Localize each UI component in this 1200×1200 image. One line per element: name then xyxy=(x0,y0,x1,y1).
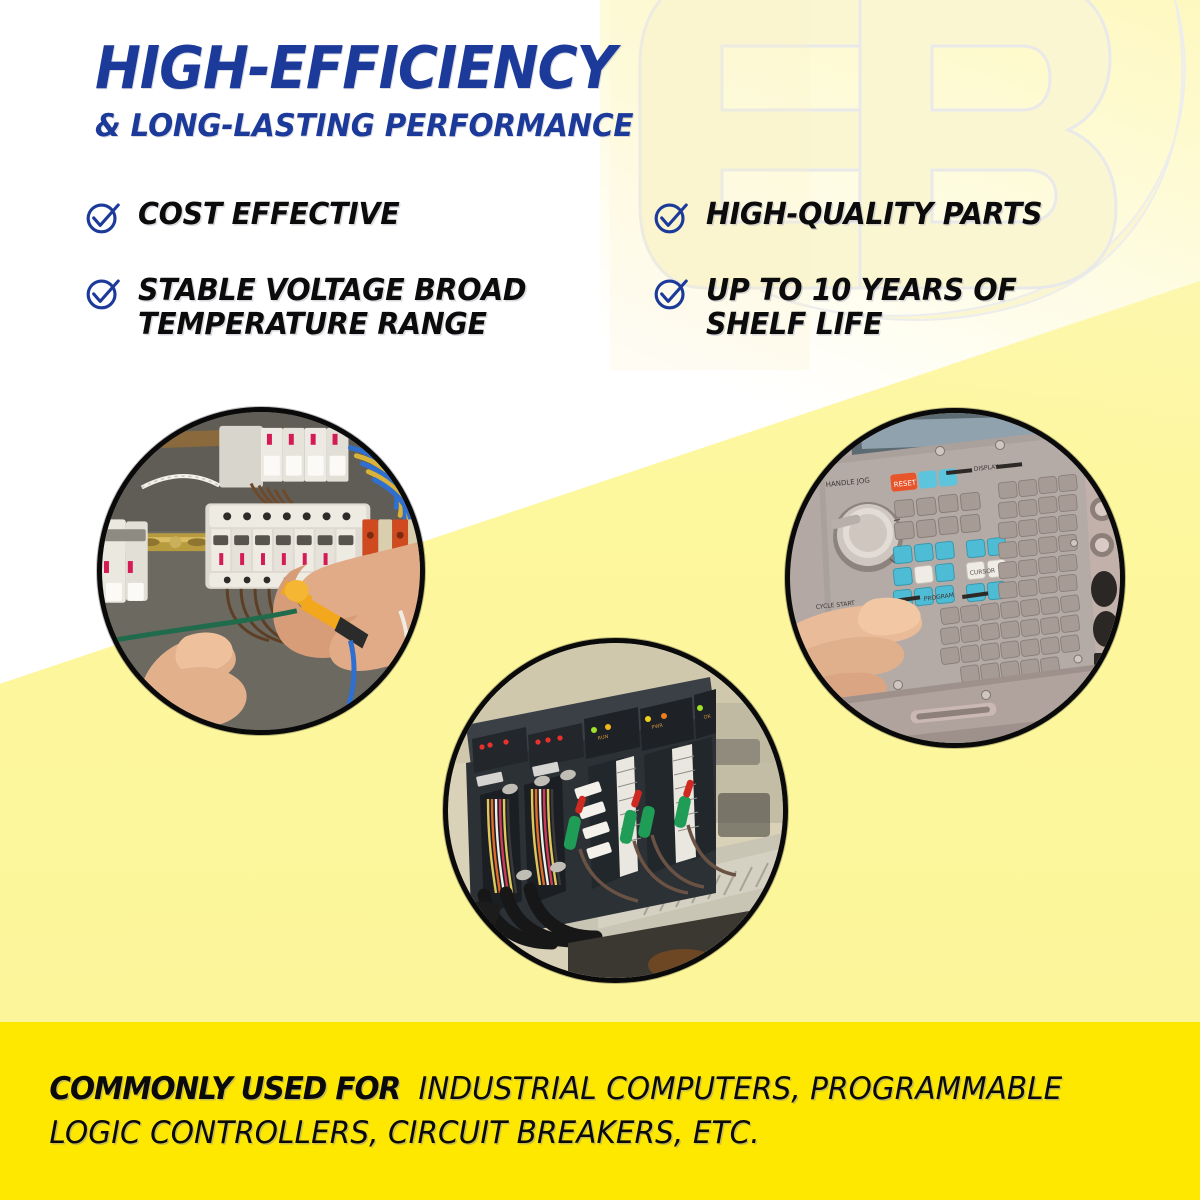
benefits-list: COST EFFECTIVE STABLE VOLTAGE BROAD TEMP… xyxy=(0,192,1200,372)
check-circle-icon xyxy=(652,199,689,236)
usage-banner: COMMONLY USED FOR INDUSTRIAL COMPUTERS, … xyxy=(0,1022,1200,1200)
benefit-item-high-quality-parts: HIGH-QUALITY PARTS xyxy=(652,198,1132,236)
benefit-item-shelf-life: UP TO 10 YEARS OF SHELF LIFE xyxy=(652,274,1122,341)
benefit-label: HIGH-QUALITY PARTS xyxy=(706,198,1042,232)
benefit-label: COST EFFECTIVE xyxy=(138,198,399,232)
photo-circuit-breaker-panel xyxy=(97,407,425,735)
benefit-label: UP TO 10 YEARS OF SHELF LIFE xyxy=(706,274,1017,341)
check-circle-icon xyxy=(84,199,121,236)
photo-cnc-control-panel: HANDLE JOG RESET DISPLAY xyxy=(785,408,1125,748)
headline-block: HIGH-EFFICIENCY & LONG-LASTING PERFORMAN… xyxy=(95,38,715,142)
benefit-item-cost-effective: COST EFFECTIVE xyxy=(84,198,604,236)
photo-plc-rack-modules: RUN PWR OK xyxy=(443,638,788,983)
usage-banner-text: COMMONLY USED FOR INDUSTRIAL COMPUTERS, … xyxy=(0,1067,1140,1155)
page-subtitle: & LONG-LASTING PERFORMANCE xyxy=(95,111,684,142)
page-title: HIGH-EFFICIENCY xyxy=(95,38,672,97)
usage-banner-lead: COMMONLY USED FOR xyxy=(49,1071,400,1107)
check-circle-icon xyxy=(84,275,121,312)
benefit-item-stable-voltage: STABLE VOLTAGE BROAD TEMPERATURE RANGE xyxy=(84,274,624,341)
infographic-canvas: HIGH-EFFICIENCY & LONG-LASTING PERFORMAN… xyxy=(0,0,1200,1200)
check-circle-icon xyxy=(652,275,689,312)
benefit-label: STABLE VOLTAGE BROAD TEMPERATURE RANGE xyxy=(138,274,526,341)
